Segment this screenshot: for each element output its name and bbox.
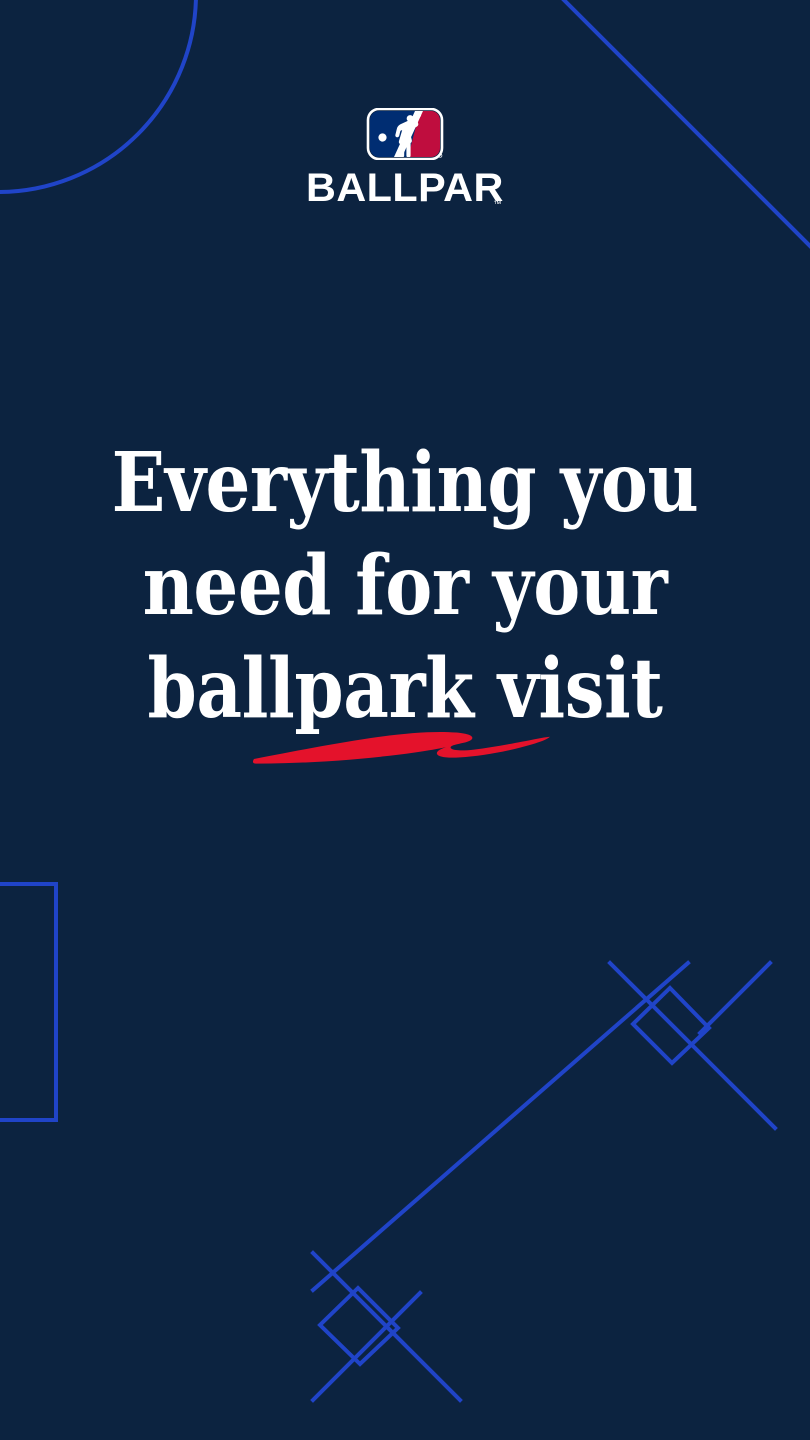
page-headline: Everything you need for your ballpark vi… [57, 432, 754, 741]
headline-line-2: need for your [57, 535, 754, 638]
brand-lockup: BALLPARK ™ [0, 108, 810, 209]
ballpark-wordmark-text: BALLPARK ™ [306, 167, 503, 209]
ballpark-wordmark: BALLPARK ™ [306, 167, 503, 209]
ballpark-wordmark-label: BALLPARK [306, 167, 503, 209]
mlb-batter-silhouette-icon [366, 108, 444, 160]
rectangle-outline-bottom-left-icon [0, 884, 56, 1120]
diamond-path-bottom-right-icon [313, 963, 775, 1400]
red-brush-swoosh-icon [250, 718, 560, 768]
headline-line-1: Everything you [57, 432, 754, 535]
headline-underline [0, 718, 810, 768]
onboarding-screen: BALLPARK ™ Everything you need for your … [0, 0, 810, 1440]
trademark-symbol: ™ [494, 199, 502, 208]
headline-block: Everything you need for your ballpark vi… [0, 432, 810, 741]
